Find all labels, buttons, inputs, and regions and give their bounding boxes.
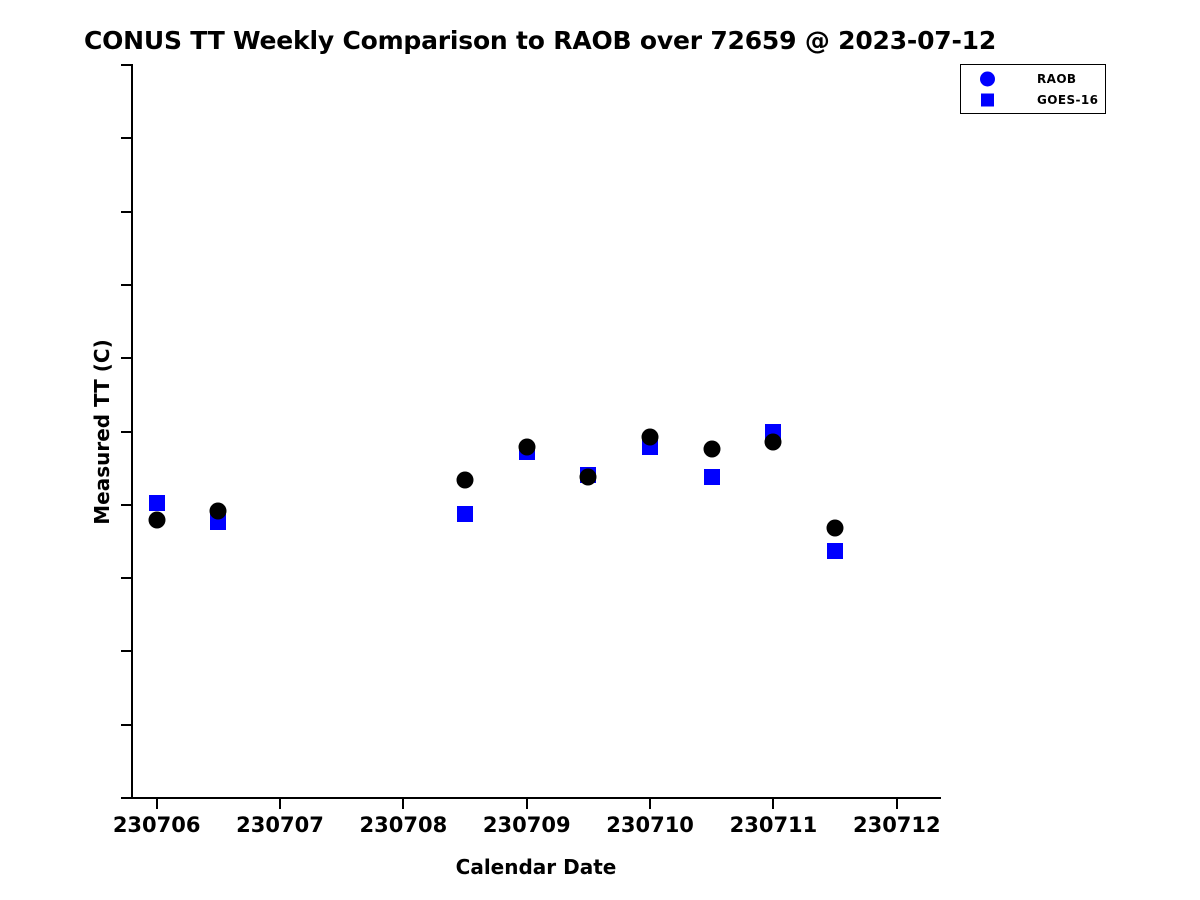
legend-marker-circle-icon xyxy=(980,72,995,87)
y-tick-mark xyxy=(121,137,132,139)
y-tick-mark xyxy=(121,284,132,286)
data-point-goes-16 xyxy=(827,543,843,559)
data-point-goes-16 xyxy=(149,495,165,511)
y-tick-mark xyxy=(121,504,132,506)
x-tick-mark xyxy=(526,798,528,809)
data-point-raob xyxy=(642,428,659,445)
data-point-raob xyxy=(703,441,720,458)
y-tick-mark xyxy=(121,650,132,652)
data-point-raob xyxy=(518,438,535,455)
y-tick-mark xyxy=(121,724,132,726)
plot-area: Measured TT (C) Calendar Date 0102030405… xyxy=(132,65,940,798)
legend-label: GOES-16 xyxy=(1037,93,1098,107)
y-tick-mark xyxy=(121,797,132,799)
data-point-goes-16 xyxy=(704,469,720,485)
x-axis-title: Calendar Date xyxy=(132,855,940,879)
data-point-raob xyxy=(765,434,782,451)
legend-item-raob[interactable]: RAOB xyxy=(961,68,1105,90)
y-tick-mark xyxy=(121,431,132,433)
x-tick-mark xyxy=(402,798,404,809)
chart-legend: RAOBGOES-16 xyxy=(960,64,1106,114)
x-tick-mark xyxy=(649,798,651,809)
legend-label: RAOB xyxy=(1037,72,1076,86)
x-tick-mark xyxy=(772,798,774,809)
y-tick-mark xyxy=(121,357,132,359)
chart-title: CONUS TT Weekly Comparison to RAOB over … xyxy=(0,26,1080,55)
x-tick-mark xyxy=(156,798,158,809)
data-point-raob xyxy=(580,468,597,485)
y-tick-mark xyxy=(121,64,132,66)
x-tick-mark xyxy=(279,798,281,809)
legend-marker-square-icon xyxy=(981,94,994,107)
legend-item-goes-16[interactable]: GOES-16 xyxy=(961,89,1105,111)
data-point-raob xyxy=(457,471,474,488)
y-tick-mark xyxy=(121,577,132,579)
data-point-raob xyxy=(148,512,165,529)
y-tick-mark xyxy=(121,211,132,213)
y-axis-title: Measured TT (C) xyxy=(90,222,114,642)
data-point-raob xyxy=(827,520,844,537)
chart-figure: CONUS TT Weekly Comparison to RAOB over … xyxy=(0,0,1200,900)
data-point-goes-16 xyxy=(457,506,473,522)
x-tick-label: 230712 xyxy=(817,813,977,837)
x-tick-mark xyxy=(896,798,898,809)
data-point-raob xyxy=(210,502,227,519)
